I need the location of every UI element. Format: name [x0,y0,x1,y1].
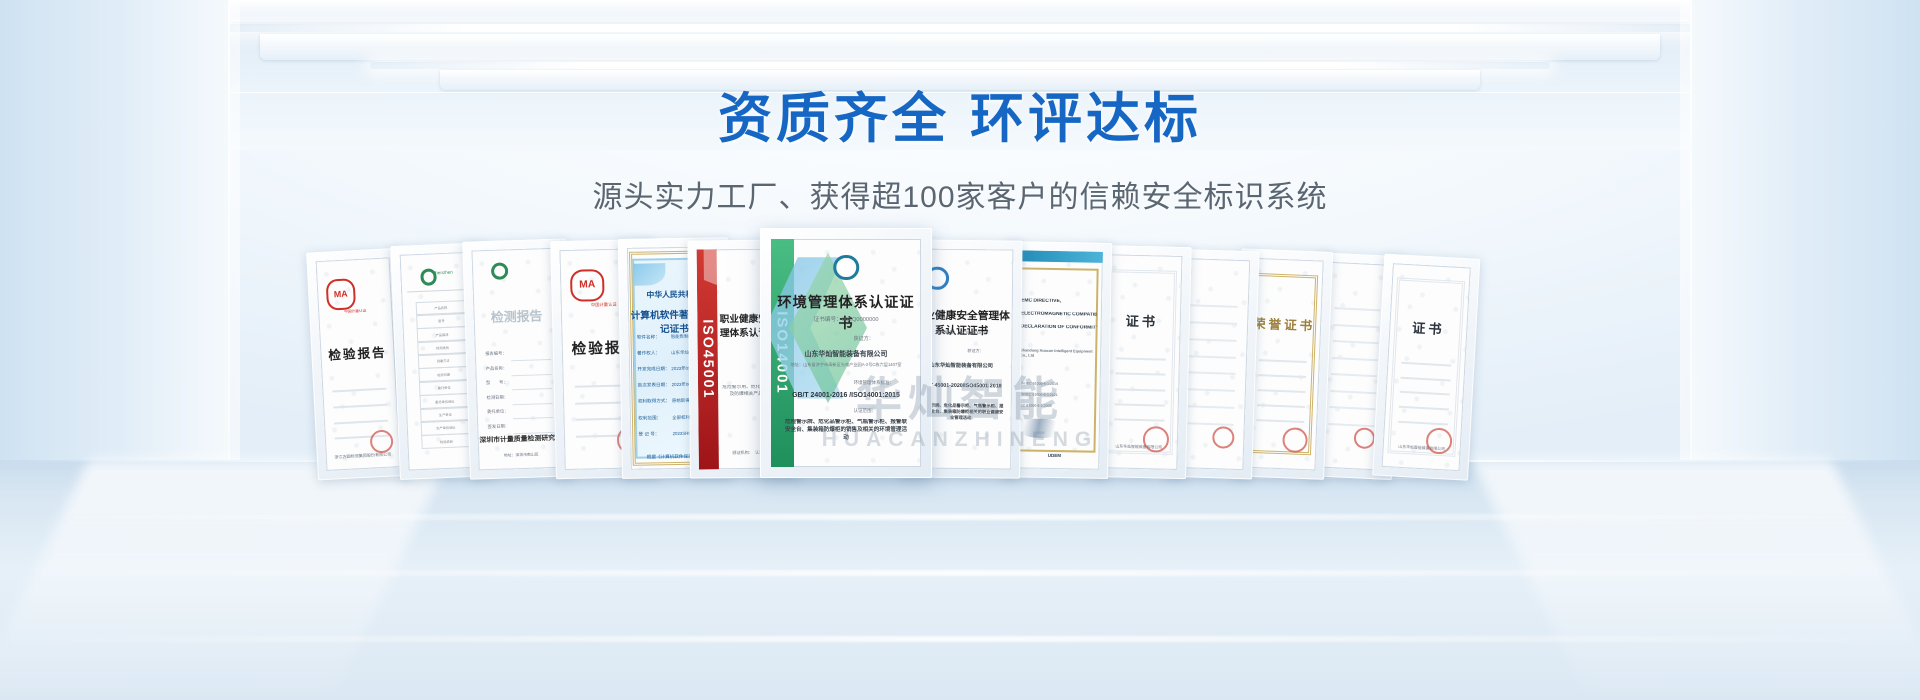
company-address: 地址：山东省济宁市高新区光电产业园A-2号C栋六层1407室 [771,362,921,367]
standard-code: GB/T 24001-2016 /ISO14001:2015 [771,392,921,399]
field-row: 报告编号： [485,351,507,358]
floor [0,460,1920,700]
header-bar [1013,250,1103,262]
floor-light-beam-left [0,460,449,700]
field-label: 权利范围： [638,415,661,421]
certificate-paper: MA中国计量认证检验报告浙江方圆检测集团股份有限公司 [316,257,401,471]
certificate-title: 检验报告 [320,341,395,364]
ma-badge: MA [570,269,604,302]
headline-part-2: 环评达标 [970,89,1202,149]
page-subtitle: 源头实力工厂、获得超100家客户的信赖安全标识系统 [0,146,1920,216]
company-label: 获证方： [854,335,917,342]
certificate-paper: EMC DIRECTIVE,ELECTROMAGNETIC COMPATIBIL… [1009,250,1103,470]
company-name: 山东华灿智能装备有限公司 [771,348,921,358]
standard-label: 环境管理体系标准： [854,380,917,386]
certificate-paper: 证书山东华灿智能装备有限公司 [1099,254,1182,470]
certificate-paper: 证书山东华灿智能装备有限公司 [1382,263,1471,471]
scope-text: 危险警示牌、危化品警示柜、气瓶警示柜、报警联安全台、集装箱防爆柜的销售及相关的环… [783,419,909,442]
field-row: 型 号： [486,380,508,387]
company-label: 获证方： [967,348,1008,354]
floor-sheen-3 [0,636,1920,642]
banner-stage: 资质齐全环评达标 源头实力工厂、获得超100家客户的信赖安全标识系统 MA中国计… [0,0,1920,700]
floor-sheen-1 [0,514,1920,520]
field-row: 委托单位： [487,409,509,416]
ma-badge: MA [325,278,356,311]
signature [1020,418,1060,438]
frame-border: ISO14001环境管理体系认证证书证书编号：00EQ0000000获证方：山东… [760,228,932,478]
field-label: 著作权人： [637,350,660,356]
certificate-paper: ISO14001环境管理体系认证证书证书编号：00EQ0000000获证方：山东… [771,239,921,467]
ce-standard: IEC 61000-4-2:2008 [1019,403,1051,408]
certificate-frame[interactable]: 证书山东华灿智能装备有限公司 [1372,254,1480,481]
field-label: 登 记 号： [638,431,659,437]
certificate-title: 环境管理体系认证证书 [771,291,921,333]
field-label: 首次发表日期： [638,382,670,389]
scope-label: 认证范围： [854,408,917,414]
certificate-title: 证书 [1103,310,1181,331]
field-label: 软件名称： [637,334,660,340]
certificate-number: 证书编号：00EQ0000000 [771,314,921,323]
floor-sheen-2 [0,570,1920,576]
frame-border: 证书山东华灿智能装备有限公司 [1372,254,1480,481]
certificate-border-ornament [1105,269,1177,455]
spec-row: 检验项目 [421,433,472,449]
headline-part-1: 资质齐全 [718,89,950,149]
red-seal [1142,426,1168,452]
certificate-gallery: MA中国计量认证检验报告浙江方圆检测集团股份有限公司Shenzhen产品名称型号… [0,228,1920,478]
field-label: 权利取得方式： [638,398,670,405]
certificate-title: 荣誉证书 [1247,312,1322,334]
ce-standard: EN IEC 61000-6-3:2021 [1019,392,1057,397]
certificate-title: 检测报告 [473,305,560,327]
headline-block: 资质齐全环评达标 源头实力工厂、获得超100家客户的信赖安全标识系统 [0,0,1920,216]
iso-standard-label: ISO45001 [699,319,716,399]
certification-body-logo [833,255,859,281]
field-row: 产品名称： [486,365,508,372]
field-row: 检测日期： [487,394,509,401]
certificate-frame[interactable]: ISO14001环境管理体系认证证书证书编号：00EQ0000000获证方：山东… [760,228,932,478]
page-title: 资质齐全环评达标 [0,0,1920,146]
field-row: 签发日期： [488,423,510,430]
field-label: 开发完成日期： [637,366,669,373]
ce-standard: EN IEC 61000-6-1:2019 [1020,381,1058,386]
ce-company: Shandong Huacan Intelligent Equipment Co… [1020,348,1096,359]
certificate-border-ornament [1388,278,1465,457]
floor-light-beam-right [1471,460,1920,700]
